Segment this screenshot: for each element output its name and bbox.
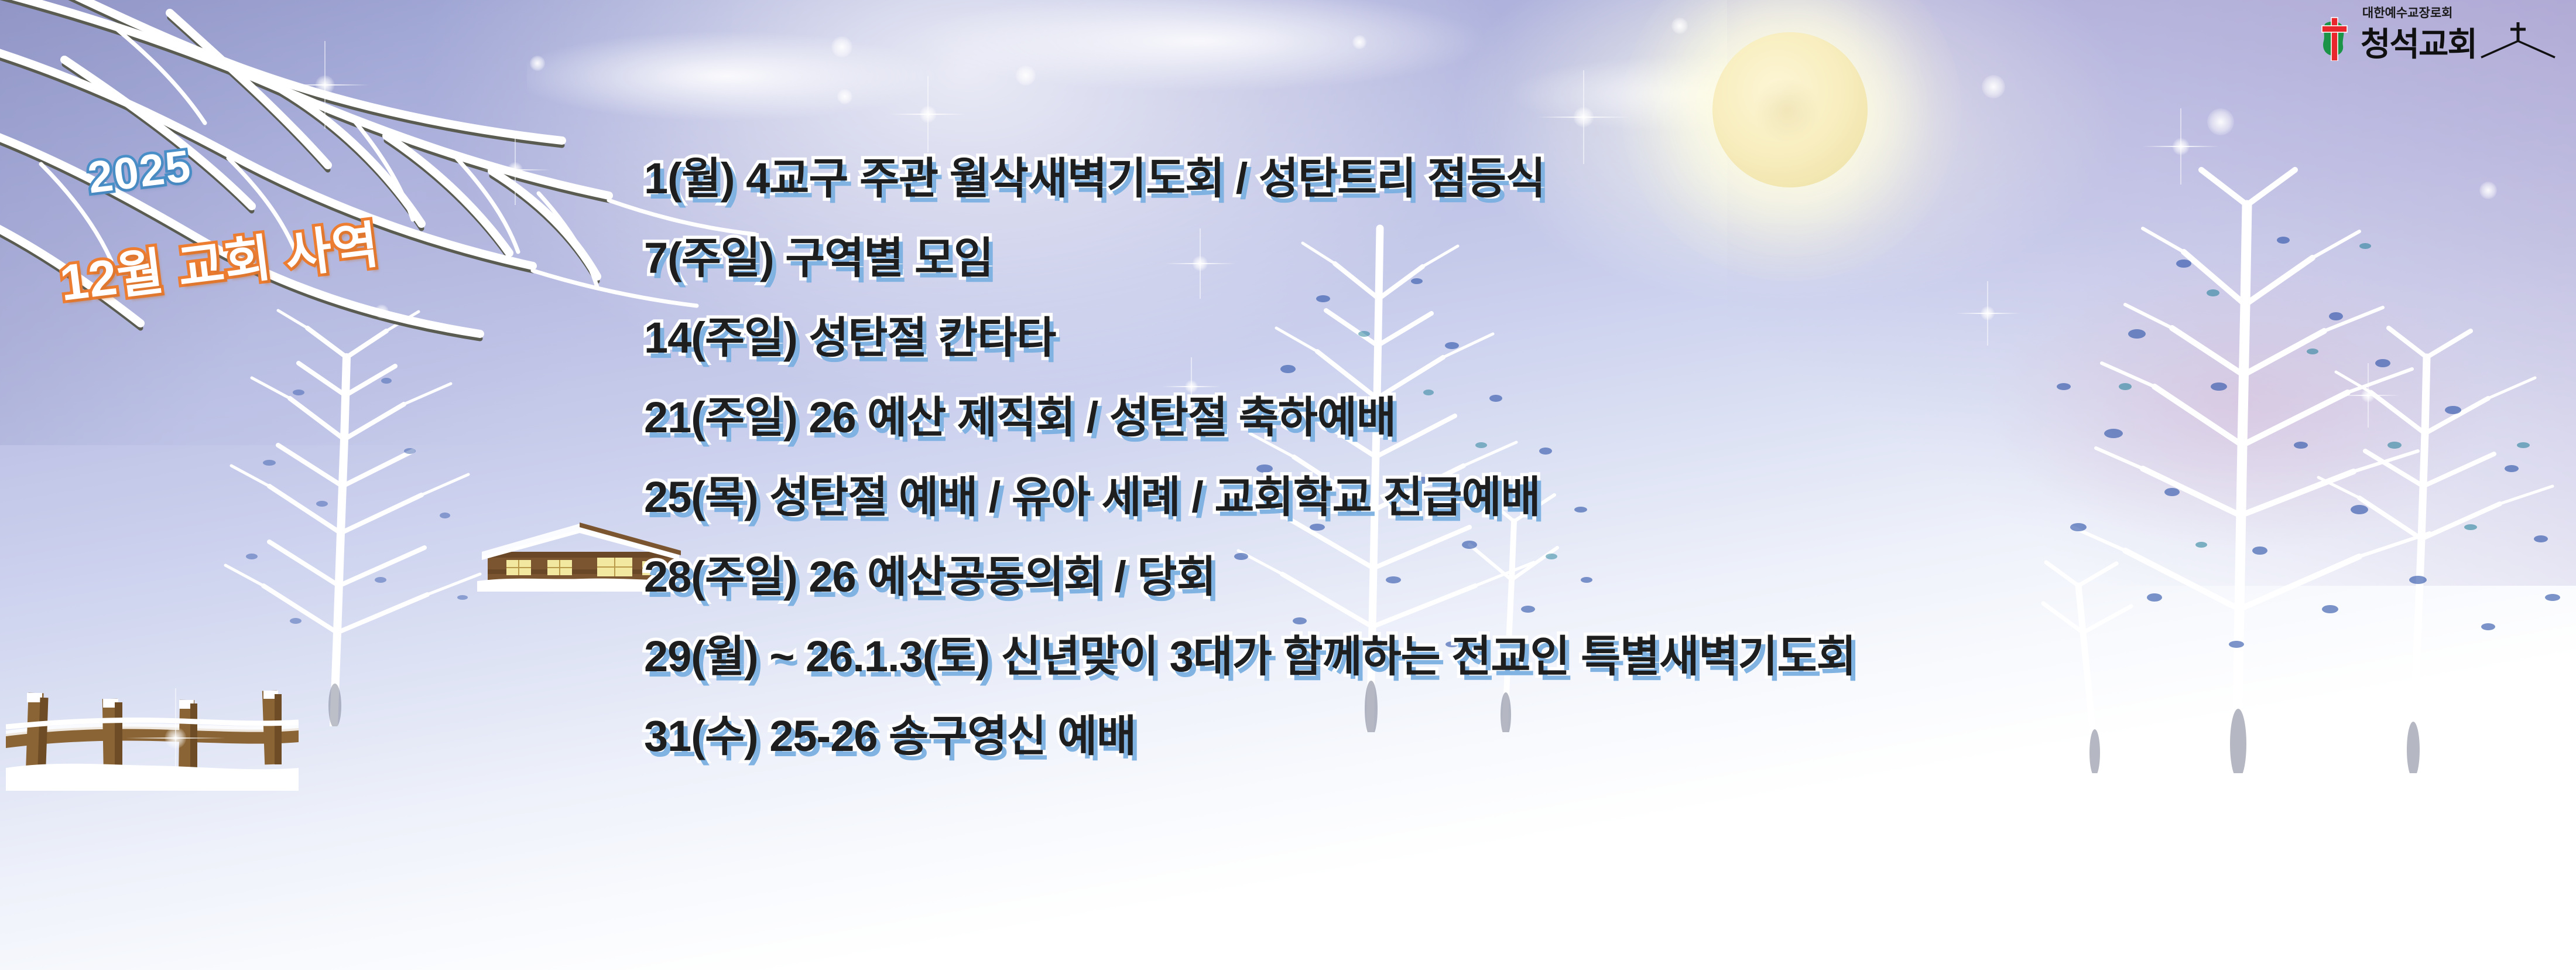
wooden-fence-icon xyxy=(6,665,299,791)
church-building-icon xyxy=(2480,21,2556,60)
snow-dot xyxy=(837,89,852,104)
snow-dot xyxy=(530,56,545,71)
snow-dot xyxy=(831,36,852,57)
snow-dot xyxy=(1671,18,1688,34)
schedule-line: 1(월) 4교구 주관 월삭새벽기도회 / 성탄트리 점등식 xyxy=(644,157,2547,200)
snow-dot xyxy=(1982,75,2005,98)
snow-dot xyxy=(2207,108,2234,135)
schedule-line: 29(월) ~ 26.1.3(토) 신년맞이 3대가 함께하는 전교인 특별새벽… xyxy=(644,635,2547,678)
logo-church-name: 청석교회 xyxy=(2361,28,2476,61)
schedule-line: 7(주일) 구역별 모임 xyxy=(644,237,2547,280)
schedule-line: 25(목) 성탄절 예배 / 유아 세례 / 교회학교 진급예배 xyxy=(644,476,2547,519)
winter-church-schedule-banner: 2025 12월 교회 사역 1(월) 4교구 주관 월삭새벽기도회 / 성탄트… xyxy=(0,0,2576,970)
logo-denomination: 대한예수교장로회 xyxy=(2362,7,2556,19)
schedule-line: 14(주일) 성탄절 칸타타 xyxy=(644,316,2547,360)
schedule-line: 21(주일) 26 예산 제직회 / 성탄절 축하예배 xyxy=(644,396,2547,439)
schedule-line: 31(수) 25-26 송구영신 예배 xyxy=(644,715,2547,758)
schedule-list: 1(월) 4교구 주관 월삭새벽기도회 / 성탄트리 점등식 7(주일) 구역별… xyxy=(644,157,2547,758)
schedule-line: 28(주일) 26 예산공동의회 / 당회 xyxy=(644,555,2547,599)
church-logo: 대한예수교장로회 청석교회 xyxy=(2316,7,2556,61)
snow-dot xyxy=(1352,35,1366,49)
snow-dot xyxy=(1016,66,1036,86)
snow-dot xyxy=(375,305,389,319)
logo-name-row: 청석교회 xyxy=(2361,21,2556,61)
cross-and-korea-map-icon xyxy=(2316,8,2352,61)
logo-text-block: 대한예수교장로회 청석교회 xyxy=(2361,7,2556,61)
